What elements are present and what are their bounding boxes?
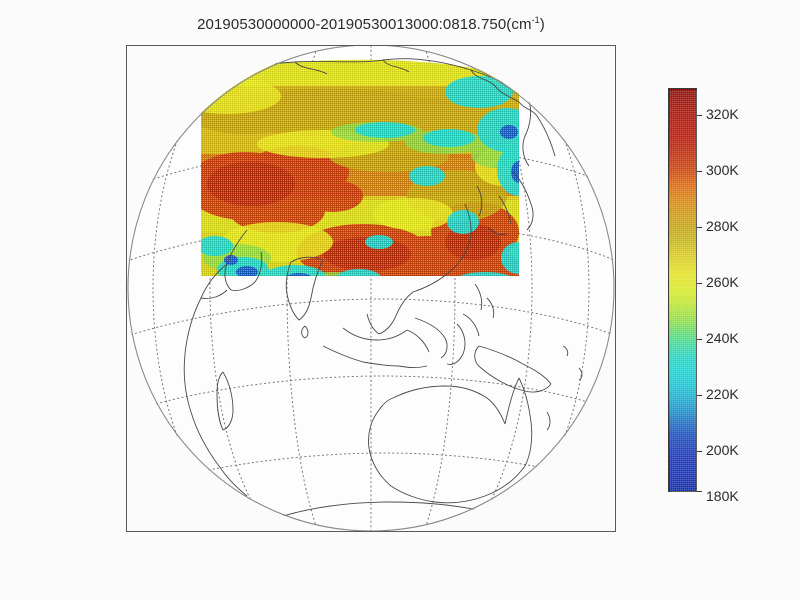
colorbar-label-280: 280K (706, 218, 739, 234)
colorbar: 320K 300K 280K 260K 240K 220K 200K 180K (668, 88, 788, 498)
colorbar-dither-overlay (670, 90, 697, 492)
colorbar-label-180: 180K (706, 488, 739, 504)
title-wavenumber: 0818.750 (443, 16, 506, 33)
title-unit-open: (cm (506, 16, 531, 33)
colorbar-label-320: 320K (706, 106, 739, 122)
page-title: 20190530000000-20190530013000:0818.750(c… (0, 16, 742, 33)
colorbar-gradient (668, 88, 697, 492)
figure-canvas: 20190530000000-20190530013000:0818.750(c… (0, 0, 800, 600)
title-end-time: 20190530013000 (320, 16, 438, 33)
colorbar-label-260: 260K (706, 274, 739, 290)
globe-disc (127, 46, 615, 531)
colorbar-tick (697, 115, 702, 116)
colorbar-label-300: 300K (706, 162, 739, 178)
colorbar-tick (697, 339, 702, 340)
colorbar-label-240: 240K (706, 330, 739, 346)
title-unit-exponent: -1 (532, 15, 540, 25)
title-start-time: 20190530000000 (197, 16, 315, 33)
colorbar-label-200: 200K (706, 442, 739, 458)
colorbar-tick (697, 451, 702, 452)
colorbar-label-220: 220K (706, 386, 739, 402)
colorbar-tick (697, 395, 702, 396)
title-unit-close: ) (540, 16, 545, 33)
colorbar-tick (697, 227, 702, 228)
orthographic-globe-map (127, 46, 615, 531)
colorbar-tick (697, 283, 702, 284)
colorbar-tick (697, 491, 702, 492)
colorbar-tick (697, 171, 702, 172)
map-plot-frame (126, 45, 616, 532)
